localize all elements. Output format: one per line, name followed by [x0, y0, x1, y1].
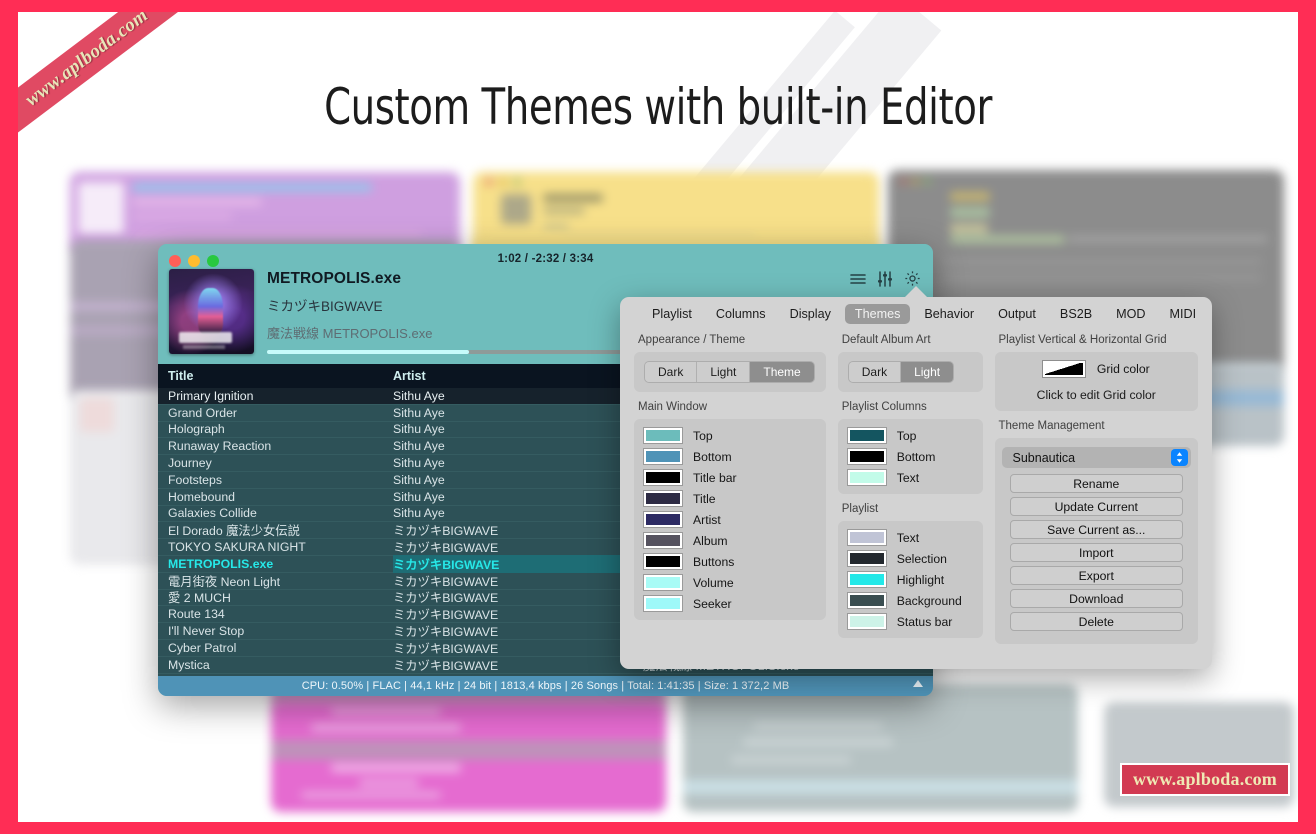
- album-art-option-dark[interactable]: Dark: [849, 362, 901, 382]
- color-row: Top: [644, 428, 816, 443]
- main-window-label-volume: Volume: [693, 576, 734, 590]
- track-row-title: Galaxies Collide: [158, 506, 393, 520]
- main-window-swatch-artist[interactable]: [644, 512, 682, 527]
- main-window-label-seeker: Seeker: [693, 597, 732, 611]
- playlist-columns-label-text: Text: [897, 471, 919, 485]
- main-window-label-buttons: Buttons: [693, 555, 734, 569]
- watermark-badge-text: www.aplboda.com: [1133, 769, 1277, 789]
- track-row-artist: Sithu Aye: [393, 506, 643, 520]
- track-row-title: Cyber Patrol: [158, 641, 393, 655]
- track-row-artist: Sithu Aye: [393, 473, 643, 487]
- track-row-artist: Sithu Aye: [393, 389, 643, 403]
- appearance-option-theme[interactable]: Theme: [750, 362, 813, 382]
- track-row-title: Grand Order: [158, 406, 393, 420]
- main-window-swatch-volume[interactable]: [644, 575, 682, 590]
- album-art-option-light[interactable]: Light: [901, 362, 953, 382]
- theme-select-dropdown[interactable]: Subnautica: [1002, 447, 1191, 468]
- main-window-swatch-bottom[interactable]: [644, 449, 682, 464]
- track-row-artist: ミカヅキBIGWAVE: [393, 622, 643, 640]
- track-row-artist: ミカヅキBIGWAVE: [393, 521, 643, 539]
- track-row-artist: Sithu Aye: [393, 456, 643, 470]
- playlist-columns-swatch-top[interactable]: [848, 428, 886, 443]
- track-row-title: Runaway Reaction: [158, 439, 393, 453]
- playlist-swatch-background[interactable]: [848, 593, 886, 608]
- playlist-color-group: TextSelectionHighlightBackgroundStatus b…: [838, 521, 983, 638]
- playlist-label-background: Background: [897, 594, 962, 608]
- track-row-title: Holograph: [158, 422, 393, 436]
- playlist-columns-group-label: Playlist Columns: [838, 401, 983, 413]
- main-window-swatch-top[interactable]: [644, 428, 682, 443]
- tab-display[interactable]: Display: [780, 304, 841, 324]
- time-readout: 1:02 / -2:32 / 3:34: [158, 253, 933, 265]
- tab-midi[interactable]: MIDI: [1160, 304, 1207, 324]
- page-frame: Custom Themes with built-in Editor: [18, 12, 1298, 822]
- track-row-artist: ミカヅキBIGWAVE: [393, 588, 643, 606]
- playlist-label-text: Text: [897, 531, 919, 545]
- tab-bs2b[interactable]: BS2B: [1050, 304, 1102, 324]
- track-row-artist: ミカヅキBIGWAVE: [393, 639, 643, 657]
- page-title: Custom Themes with built-in Editor: [108, 78, 1209, 136]
- popover-arrow: [903, 286, 929, 299]
- theme-delete-button[interactable]: Delete: [1010, 612, 1183, 631]
- track-row-title: Route 134: [158, 607, 393, 621]
- appearance-segmented-control: DarkLightTheme: [644, 361, 815, 383]
- track-row-artist: ミカヅキBIGWAVE: [393, 555, 643, 573]
- theme-select-value: Subnautica: [1013, 451, 1076, 465]
- tab-mod[interactable]: MOD: [1106, 304, 1155, 324]
- main-window-label-title: Title: [693, 492, 716, 506]
- main-window-swatch-buttons[interactable]: [644, 554, 682, 569]
- album-art[interactable]: [169, 269, 254, 354]
- track-row-title: 電月街夜 Neon Light: [158, 572, 393, 590]
- color-row: Title: [644, 491, 816, 506]
- eject-icon[interactable]: [913, 680, 923, 687]
- track-row-title: Footsteps: [158, 473, 393, 487]
- playlist-label-selection: Selection: [897, 552, 947, 566]
- preferences-tab-bar: PlaylistColumnsDisplayThemesBehaviorOutp…: [620, 297, 1212, 327]
- track-row-title: METROPOLIS.exe: [158, 557, 393, 571]
- tab-themes[interactable]: Themes: [845, 304, 911, 324]
- theme-rename-button[interactable]: Rename: [1010, 474, 1183, 493]
- background-card-pink: [271, 702, 666, 812]
- default-album-art-segmented-control: DarkLight: [848, 361, 954, 383]
- color-row: Text: [848, 530, 973, 545]
- color-row: Text: [848, 470, 973, 485]
- theme-save-current-as-button[interactable]: Save Current as...: [1010, 520, 1183, 539]
- status-bar: CPU: 0.50% | FLAC | 44,1 kHz | 24 bit | …: [158, 676, 933, 696]
- track-row-title: 愛 2 MUCH: [158, 588, 393, 606]
- color-row: Selection: [848, 551, 973, 566]
- appearance-group: DarkLightTheme: [634, 352, 826, 392]
- playlist-columns-label-bottom: Bottom: [897, 450, 936, 464]
- playlist-columns-swatch-bottom[interactable]: [848, 449, 886, 464]
- track-row-title: Homebound: [158, 490, 393, 504]
- color-row: Artist: [644, 512, 816, 527]
- color-row: Highlight: [848, 572, 973, 587]
- grid-color-label: Grid color: [1097, 362, 1150, 376]
- playlist-columns-color-group: TopBottomText: [838, 419, 983, 494]
- track-row-artist: Sithu Aye: [393, 422, 643, 436]
- preferences-popover: PlaylistColumnsDisplayThemesBehaviorOutp…: [620, 297, 1212, 669]
- playlist-swatch-text[interactable]: [848, 530, 886, 545]
- color-row: Volume: [644, 575, 816, 590]
- seek-bar-fill: [267, 350, 469, 354]
- main-window-swatch-seeker[interactable]: [644, 596, 682, 611]
- status-bar-text: CPU: 0.50% | FLAC | 44,1 kHz | 24 bit | …: [302, 680, 790, 692]
- color-row: Title bar: [644, 470, 816, 485]
- track-row-artist: ミカヅキBIGWAVE: [393, 656, 643, 674]
- playlist-label-highlight: Highlight: [897, 573, 944, 587]
- color-row: Bottom: [644, 449, 816, 464]
- grid-color-hint: Click to edit Grid color: [1005, 388, 1188, 402]
- column-header-artist[interactable]: Artist: [393, 369, 643, 383]
- chevron-updown-icon: [1171, 449, 1188, 466]
- track-row-title: Primary Ignition: [158, 389, 393, 403]
- watermark-badge: www.aplboda.com: [1120, 763, 1290, 796]
- color-row: Top: [848, 428, 973, 443]
- track-row-artist: ミカヅキBIGWAVE: [393, 538, 643, 556]
- main-window-label-bottom: Bottom: [693, 450, 732, 464]
- playlist-columns-swatch-text[interactable]: [848, 470, 886, 485]
- default-album-art-group-label: Default Album Art: [838, 334, 983, 346]
- theme-management-group: Subnautica RenameUpdate CurrentSave Curr…: [995, 438, 1198, 644]
- main-window-group-label: Main Window: [634, 401, 826, 413]
- appearance-group-label: Appearance / Theme: [634, 334, 826, 346]
- playlist-swatch-selection[interactable]: [848, 551, 886, 566]
- playlist-group-label: Playlist: [838, 503, 983, 515]
- theme-export-button[interactable]: Export: [1010, 566, 1183, 585]
- appearance-option-light[interactable]: Light: [697, 362, 750, 382]
- track-title: METROPOLIS.exe: [267, 270, 913, 288]
- grid-color-swatch[interactable]: [1043, 361, 1085, 377]
- track-row-title: El Dorado 魔法少女伝説: [158, 521, 393, 539]
- playlist-columns-label-top: Top: [897, 429, 917, 443]
- main-window-label-artist: Artist: [693, 513, 721, 527]
- main-window-color-group: TopBottomTitle barTitleArtistAlbumButton…: [634, 419, 826, 620]
- main-window-swatch-title-bar[interactable]: [644, 470, 682, 485]
- theme-management-group-label: Theme Management: [995, 420, 1198, 432]
- track-row-artist: Sithu Aye: [393, 439, 643, 453]
- grid-group-label: Playlist Vertical & Horizontal Grid: [995, 334, 1198, 346]
- tab-output[interactable]: Output: [988, 304, 1046, 324]
- track-row-artist: ミカヅキBIGWAVE: [393, 572, 643, 590]
- main-window-label-album: Album: [693, 534, 728, 548]
- main-window-label-top: Top: [693, 429, 713, 443]
- theme-update-current-button[interactable]: Update Current: [1010, 497, 1183, 516]
- main-window-label-title-bar: Title bar: [693, 471, 737, 485]
- tab-behavior[interactable]: Behavior: [914, 304, 984, 324]
- track-row-title: I'll Never Stop: [158, 624, 393, 638]
- color-row: Bottom: [848, 449, 973, 464]
- tab-playlist[interactable]: Playlist: [642, 304, 702, 324]
- main-window-swatch-album[interactable]: [644, 533, 682, 548]
- theme-management-buttons: RenameUpdate CurrentSave Current as...Im…: [1002, 474, 1191, 631]
- playlist-swatch-status-bar[interactable]: [848, 614, 886, 629]
- color-row: Seeker: [644, 596, 816, 611]
- track-row-title: Mystica: [158, 658, 393, 672]
- playlist-swatch-highlight[interactable]: [848, 572, 886, 587]
- color-row: Buttons: [644, 554, 816, 569]
- color-row: Background: [848, 593, 973, 608]
- track-row-artist: Sithu Aye: [393, 406, 643, 420]
- theme-import-button[interactable]: Import: [1010, 543, 1183, 562]
- track-row-title: Journey: [158, 456, 393, 470]
- theme-download-button[interactable]: Download: [1010, 589, 1183, 608]
- track-row-title: TOKYO SAKURA NIGHT: [158, 540, 393, 554]
- main-window-swatch-title[interactable]: [644, 491, 682, 506]
- background-card-teal: [683, 684, 1078, 812]
- track-row-artist: ミカヅキBIGWAVE: [393, 605, 643, 623]
- color-row: Album: [644, 533, 816, 548]
- playlist-label-status-bar: Status bar: [897, 615, 953, 629]
- appearance-option-dark[interactable]: Dark: [645, 362, 697, 382]
- track-row-artist: Sithu Aye: [393, 490, 643, 504]
- default-album-art-group: DarkLight: [838, 352, 983, 392]
- tab-columns[interactable]: Columns: [706, 304, 776, 324]
- color-row: Status bar: [848, 614, 973, 629]
- column-header-title[interactable]: Title: [158, 369, 393, 383]
- grid-color-group: Grid color Click to edit Grid color: [995, 352, 1198, 411]
